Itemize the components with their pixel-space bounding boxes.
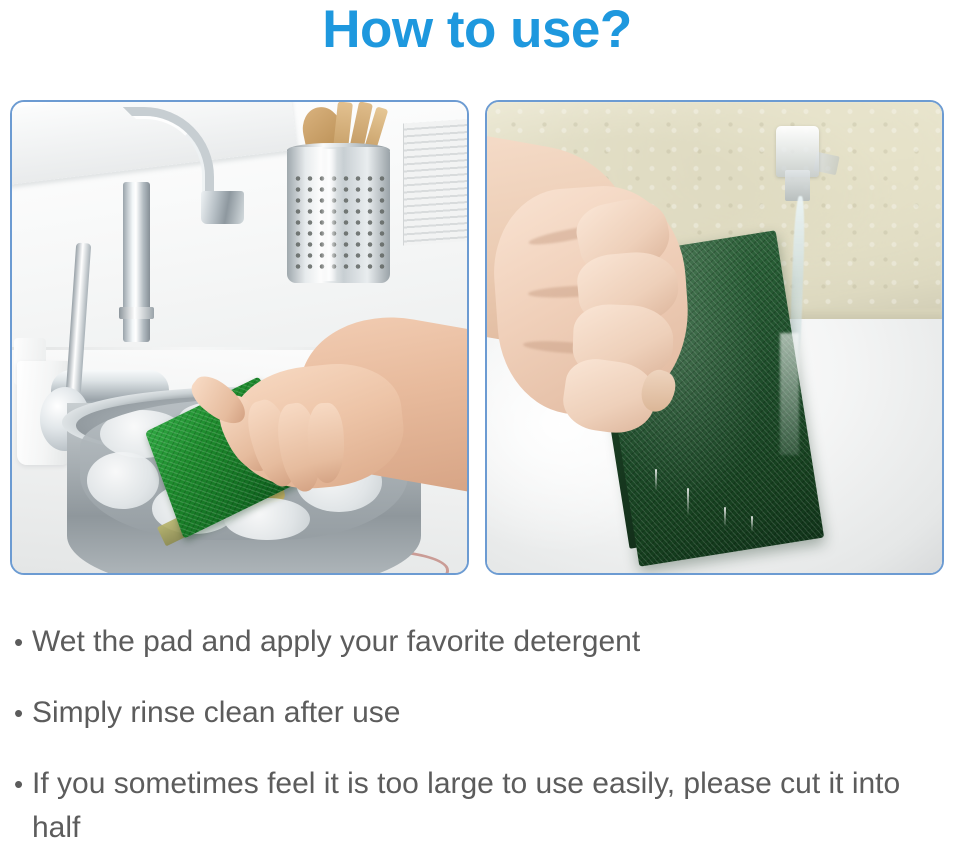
instruction-item: • Wet the pad and apply your favorite de… xyxy=(14,620,944,664)
instruction-text: Simply rinse clean after use xyxy=(32,691,944,735)
right-photo-frame xyxy=(485,100,944,575)
page-title-text: How to use xyxy=(322,2,600,58)
right-photo-image xyxy=(487,102,942,573)
instruction-text: If you sometimes feel it is too large to… xyxy=(32,762,944,850)
bullet-icon: • xyxy=(14,620,32,664)
page-title-question-mark: ? xyxy=(600,2,632,58)
utensil-holder-highlight xyxy=(321,149,336,281)
utensil-holder-perforations xyxy=(292,173,385,272)
how-to-use-page: How to use? xyxy=(0,0,954,851)
bullet-icon: • xyxy=(14,762,32,806)
water-drip xyxy=(687,488,689,516)
dish-rack xyxy=(403,118,467,246)
water-drip xyxy=(724,507,726,527)
faucet-ring xyxy=(119,307,154,319)
left-photo-frame xyxy=(10,100,469,575)
page-title: How to use? xyxy=(0,2,954,58)
left-photo-image xyxy=(12,102,467,573)
instruction-list: • Wet the pad and apply your favorite de… xyxy=(14,620,944,851)
faucet-outlet xyxy=(201,191,244,224)
bullet-icon: • xyxy=(14,691,32,735)
instruction-text: Wet the pad and apply your favorite dete… xyxy=(32,620,944,664)
water-drip xyxy=(751,516,753,532)
instruction-item: • Simply rinse clean after use xyxy=(14,691,944,735)
soap-foam xyxy=(87,452,159,509)
water-splash xyxy=(780,333,798,455)
instruction-item: • If you sometimes feel it is too large … xyxy=(14,762,944,850)
